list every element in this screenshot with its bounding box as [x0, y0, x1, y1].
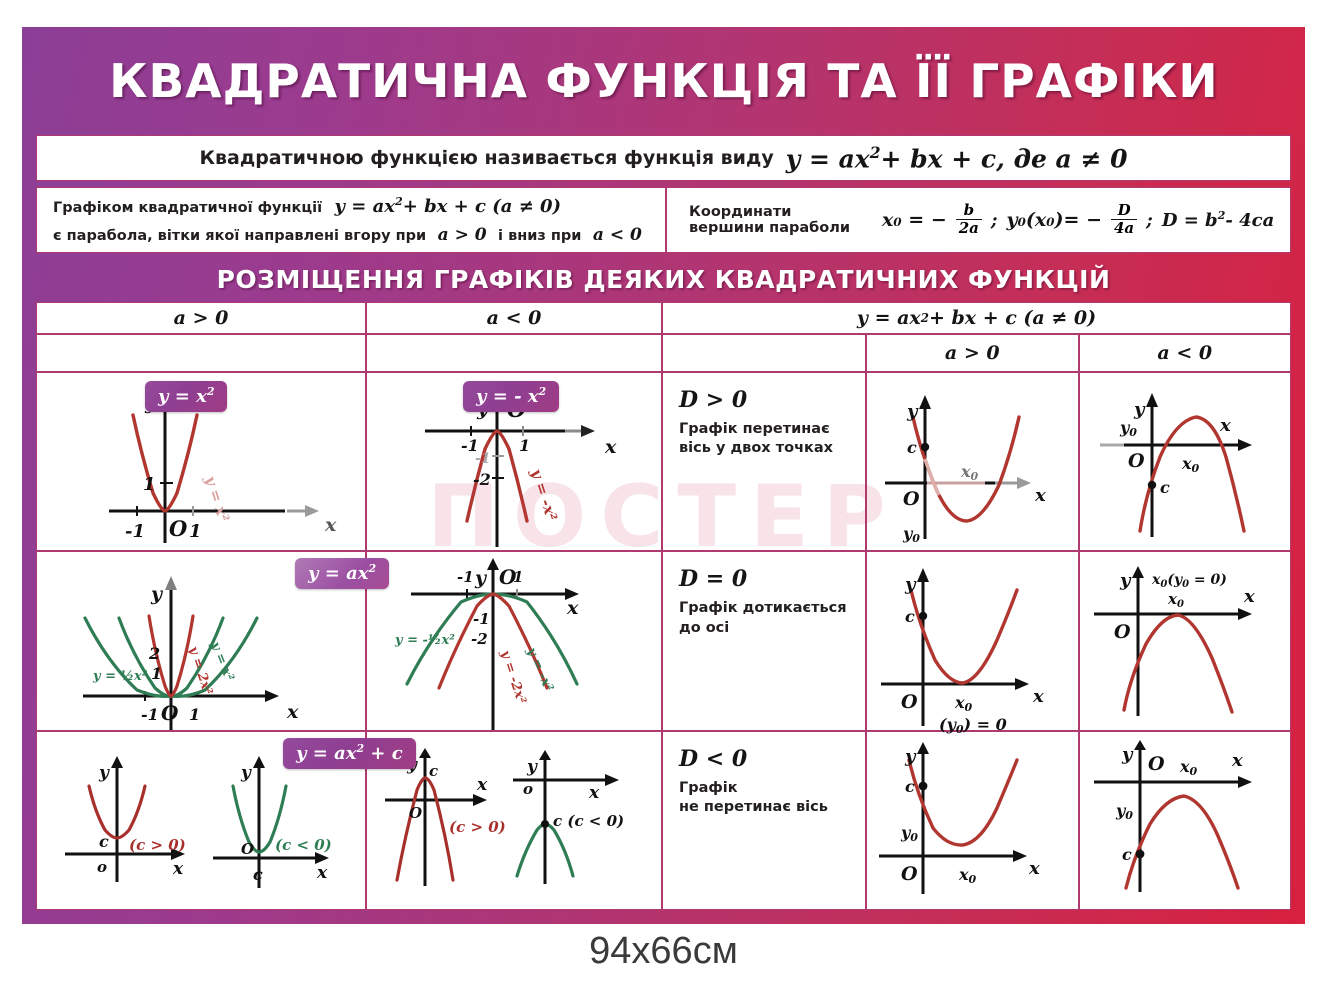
- definition-panel: Квадратичною функцією називається функці…: [36, 135, 1291, 181]
- th-blank-1: [37, 335, 367, 371]
- svg-text:-2: -2: [471, 630, 488, 648]
- discriminant-label: D < 0: [679, 746, 855, 772]
- svg-text:x: x: [1032, 686, 1044, 707]
- svg-text:c: c: [99, 832, 109, 851]
- graph-d-negative-a-positive: y x O c y0 x0: [867, 732, 1078, 909]
- th-a-positive: a > 0: [37, 303, 367, 333]
- svg-text:(c < 0): (c < 0): [275, 836, 332, 854]
- definition-text: Квадратичною функцією називається функці…: [199, 147, 773, 169]
- svg-text:y0: y0: [902, 524, 920, 545]
- svg-text:x0: x0: [1181, 454, 1200, 475]
- chip-y-minus-x-squared: y = - x2: [463, 381, 559, 412]
- svg-text:x: x: [324, 514, 337, 536]
- svg-text:x: x: [1034, 485, 1046, 506]
- cell-y-equals-minus-x-squared: y = - x2: [367, 373, 663, 550]
- svg-text:(c > 0): (c > 0): [129, 836, 186, 854]
- svg-text:O: O: [1148, 753, 1165, 775]
- page-title: КВАДРАТИЧНА ФУНКЦІЯ ТА ЇЇ ГРАФІКИ: [109, 54, 1219, 108]
- svg-text:-1: -1: [125, 521, 145, 542]
- svg-text:c: c: [1160, 478, 1170, 497]
- section-title: РОЗМІЩЕННЯ ГРАФІКІВ ДЕЯКИХ КВАДРАТИЧНИХ …: [217, 265, 1111, 294]
- section-header: РОЗМІЩЕННЯ ГРАФІКІВ ДЕЯКИХ КВАДРАТИЧНИХ …: [22, 259, 1305, 299]
- graph-d-positive-a-negative: y x O c x0 y0: [1080, 373, 1291, 550]
- svg-text:y = x²: y = x²: [201, 473, 233, 525]
- discriminant-label: D > 0: [679, 387, 855, 413]
- table-row: y = ax2: [37, 552, 1290, 731]
- svg-text:y: y: [906, 401, 919, 422]
- svg-text:c: c: [1122, 845, 1132, 864]
- svg-text:y: y: [474, 567, 488, 589]
- svg-text:x: x: [1231, 750, 1243, 771]
- svg-text:O: O: [901, 863, 918, 885]
- vertex-formulas: x₀ = − b 2a ; y₀(x₀)= − D 4a ; D = b2- 4…: [882, 203, 1274, 237]
- cond-a-negative: a < 0: [593, 225, 642, 245]
- svg-text:y: y: [240, 763, 252, 783]
- svg-text:2: 2: [148, 644, 160, 663]
- svg-text:y0: y0: [1115, 801, 1133, 822]
- svg-text:-2: -2: [473, 470, 491, 489]
- svg-text:x: x: [286, 701, 299, 723]
- table-header-row-2: a > 0 a < 0: [37, 335, 1290, 373]
- svg-text:x0: x0: [958, 865, 977, 886]
- svg-text:O: O: [1114, 621, 1131, 643]
- chip-y-ax-squared: y = ax2: [295, 558, 389, 589]
- svg-text:-1: -1: [475, 451, 491, 467]
- svg-text:x: x: [1028, 858, 1040, 879]
- fraction-D-4a: D 4a: [1111, 203, 1137, 237]
- cell-d-positive-a-positive: y x O c x0 y0: [867, 373, 1080, 550]
- cell-d-zero-a-negative: y x O x0(y0 = 0) x0: [1080, 552, 1291, 729]
- discriminant-desc-line1: Графік дотикається: [679, 599, 855, 618]
- th-blank-3: [663, 335, 867, 371]
- svg-text:y: y: [150, 583, 164, 605]
- svg-text:x: x: [316, 863, 328, 883]
- svg-text:-1: -1: [473, 610, 490, 628]
- cell-y-equals-ax-squared-plus-c: y = ax2 + c y x o: [37, 732, 367, 909]
- poster-root: КВАДРАТИЧНА ФУНКЦІЯ ТА ЇЇ ГРАФІКИ Квадра…: [0, 0, 1327, 1000]
- cell-d-negative-a-negative: y x O c y0 x0: [1080, 732, 1291, 909]
- parabola-note-cell: Графіком квадратичної функції y = ax2+ b…: [37, 188, 667, 252]
- svg-text:y: y: [1133, 399, 1146, 420]
- svg-text:y0: y0: [1119, 418, 1137, 439]
- svg-text:O: O: [1128, 450, 1145, 472]
- svg-text:x0: x0: [960, 462, 979, 483]
- svg-text:x: x: [1219, 415, 1231, 436]
- svg-text:y = -2x²: y = -2x²: [497, 648, 529, 707]
- svg-text:O: O: [409, 804, 422, 822]
- svg-text:y = -x²: y = -x²: [523, 645, 556, 695]
- svg-text:y0: y0: [900, 823, 918, 844]
- svg-text:o: o: [523, 780, 533, 798]
- cell-discriminant-negative: D < 0 Графік не перетинає вісь: [663, 732, 867, 909]
- discriminant-desc-line2: до осі: [679, 619, 855, 638]
- svg-text:x: x: [1243, 586, 1255, 607]
- poster-frame: КВАДРАТИЧНА ФУНКЦІЯ ТА ЇЇ ГРАФІКИ Квадра…: [22, 27, 1305, 924]
- table-row: y = ax2 + c y x o: [37, 732, 1290, 909]
- svg-text:O: O: [169, 516, 188, 541]
- svg-text:-1: -1: [457, 568, 474, 586]
- svg-text:y: y: [1121, 744, 1134, 765]
- svg-text:y: y: [526, 757, 538, 777]
- svg-text:1: 1: [519, 436, 530, 455]
- definition-formula: y = ax2+ bx + c, де a ≠ 0: [786, 143, 1128, 173]
- chip-y-x-squared: y = x2: [145, 381, 227, 412]
- cell-y-equals-ax-squared: y = ax2: [37, 552, 367, 729]
- svg-text:c: c: [905, 607, 915, 626]
- svg-text:1: 1: [513, 568, 523, 586]
- parabola-note-line2: є парабола, вітки якої направлені вгору …: [53, 225, 655, 245]
- svg-text:y = ½x²: y = ½x²: [92, 669, 148, 684]
- svg-text:O: O: [901, 691, 918, 713]
- graph-d-zero-a-negative: y x O x0(y0 = 0) x0: [1080, 552, 1291, 729]
- svg-text:c: c: [905, 777, 915, 796]
- discriminant-desc-line1: Графік: [679, 779, 855, 798]
- svg-text:y: y: [98, 763, 110, 783]
- svg-text:x: x: [566, 597, 579, 619]
- th-sub-a-positive: a > 0: [867, 335, 1080, 371]
- svg-text:x0: x0: [1167, 590, 1184, 610]
- svg-text:x: x: [172, 859, 184, 879]
- discriminant-desc-line2: вісь у двох точках: [679, 439, 855, 458]
- svg-text:1: 1: [189, 705, 200, 724]
- svg-text:x0: x0: [954, 693, 973, 714]
- svg-text:y = -x²: y = -x²: [527, 466, 561, 524]
- svg-text:x: x: [588, 783, 600, 803]
- poster-title-bar: КВАДРАТИЧНА ФУНКЦІЯ ТА ЇЇ ГРАФІКИ: [22, 27, 1305, 135]
- graph-d-positive-a-positive: y x O c x0 y0: [867, 373, 1078, 550]
- discriminant-label: D = 0: [679, 566, 855, 592]
- parabola-note-line1: Графіком квадратичної функції y = ax2+ b…: [53, 195, 655, 217]
- discriminant-desc-line2: не перетинає вісь: [679, 798, 855, 817]
- svg-text:x0: x0: [1179, 757, 1198, 778]
- svg-text:y: y: [904, 574, 917, 595]
- th-sub-a-negative: a < 0: [1080, 335, 1291, 371]
- cell-d-positive-a-negative: y x O c x0 y0: [1080, 373, 1291, 550]
- th-a-negative: a < 0: [367, 303, 663, 333]
- cell-discriminant-zero: D = 0 Графік дотикається до осі: [663, 552, 867, 729]
- cell-d-zero-a-positive: y x O c x0 (y0) = 0: [867, 552, 1080, 729]
- svg-text:c: c: [253, 865, 263, 884]
- svg-text:x0(y0 = 0): x0(y0 = 0): [1151, 572, 1227, 590]
- svg-text:(c > 0): (c > 0): [449, 818, 506, 836]
- svg-text:o: o: [97, 858, 107, 876]
- svg-text:1: 1: [189, 521, 202, 542]
- table-row: y = x2: [37, 373, 1290, 552]
- svg-text:y: y: [1119, 570, 1132, 591]
- cell-discriminant-positive: D > 0 Графік перетинає вісь у двох точка…: [663, 373, 867, 550]
- cell-d-negative-a-positive: y x O c y0 x0: [867, 732, 1080, 909]
- table-header-row-1: a > 0 a < 0 y = ax2+ bx + c (a ≠ 0): [37, 303, 1290, 335]
- svg-text:O: O: [241, 840, 254, 858]
- chip-y-ax-squared-plus-c: y = ax2 + c: [283, 738, 416, 769]
- svg-text:O: O: [161, 701, 179, 725]
- svg-text:O: O: [903, 488, 920, 510]
- svg-text:1: 1: [151, 664, 162, 683]
- size-caption: 94х66см: [0, 930, 1327, 973]
- svg-text:y: y: [904, 746, 917, 767]
- svg-text:y = -½x²: y = -½x²: [394, 633, 455, 648]
- discriminant-desc-line1: Графік перетинає: [679, 420, 855, 439]
- fraction-b-2a: b 2a: [956, 203, 982, 237]
- svg-text:-1: -1: [141, 705, 159, 724]
- svg-text:c: c: [907, 438, 917, 457]
- svg-text:x: x: [476, 775, 488, 795]
- properties-panel: Графіком квадратичної функції y = ax2+ b…: [36, 187, 1291, 253]
- graph-y-ax-squared-negative: y x O -1 1 -1 -2 y = -½x² y = -2x² y = -…: [367, 552, 661, 729]
- svg-text:c (c < 0): c (c < 0): [553, 812, 624, 830]
- svg-text:x: x: [604, 436, 617, 458]
- discriminant-formula: D = b2- 4ca: [1162, 209, 1274, 231]
- graph-d-zero-a-positive: y x O c x0 (y0) = 0: [867, 552, 1078, 729]
- vertex-cell: Координати вершини параболи x₀ = − b 2a …: [667, 188, 1290, 252]
- cond-a-positive: a > 0: [438, 225, 487, 245]
- cell-y-equals-ax-squared-negative: y x O -1 1 -1 -2 y = -½x² y = -2x² y = -…: [367, 552, 663, 729]
- cell-y-equals-x-squared: y = x2: [37, 373, 367, 550]
- vertex-label: Координати вершини параболи: [689, 204, 850, 236]
- graphs-table: a > 0 a < 0 y = ax2+ bx + c (a ≠ 0) a > …: [36, 302, 1291, 910]
- svg-text:1: 1: [143, 474, 156, 495]
- th-blank-2: [367, 335, 663, 371]
- th-general-form: y = ax2+ bx + c (a ≠ 0): [663, 303, 1290, 333]
- graph-d-negative-a-negative: y x O c y0 x0: [1080, 732, 1291, 909]
- svg-text:c: c: [429, 762, 438, 780]
